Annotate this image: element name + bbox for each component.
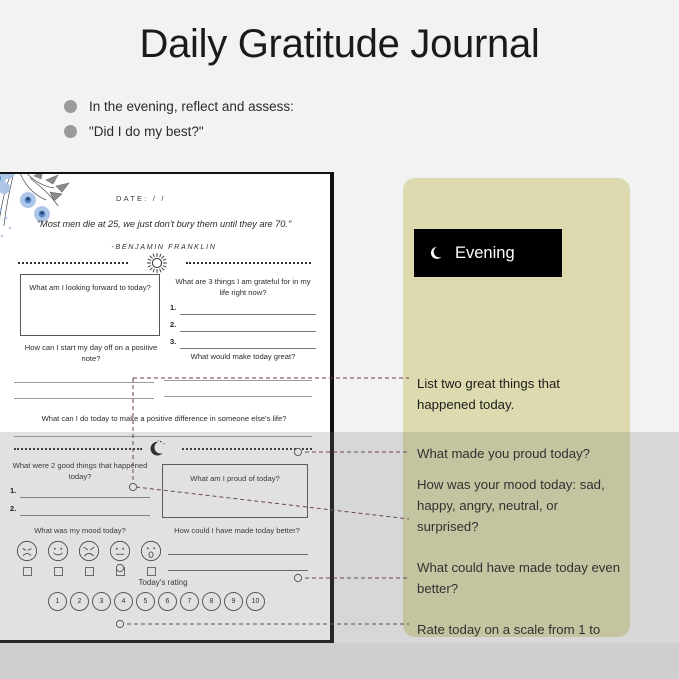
annotation-note: List two great things that happened toda…	[417, 373, 622, 415]
prompt-looking-forward: What am I looking forward to today?	[24, 282, 156, 293]
evening-badge-label: Evening	[455, 244, 515, 263]
header: Daily Gratitude Journal In the evening, …	[0, 0, 679, 160]
write-line[interactable]	[14, 398, 154, 399]
header-bullet-item: In the evening, reflect and assess:	[64, 99, 294, 114]
grateful-number: 1.	[170, 303, 176, 312]
grateful-number: 2.	[170, 320, 176, 329]
mood-checkbox-sad[interactable]	[23, 567, 32, 576]
page-title: Daily Gratitude Journal	[0, 22, 679, 67]
header-bullet-label: "Did I do my best?"	[89, 124, 204, 139]
prompt-grateful: What are 3 things I am grateful for in m…	[170, 276, 316, 298]
evening-annotation-panel: Evening List two great things that happe…	[403, 178, 630, 637]
annotation-note: What made you proud today?	[417, 443, 622, 464]
mood-checkbox-neutral[interactable]	[116, 567, 125, 576]
dotted-divider-right	[186, 262, 311, 266]
prompt-positive-difference: What can I do today to make a positive d…	[14, 414, 314, 423]
bullet-dot-icon	[64, 125, 77, 138]
write-line	[180, 348, 316, 349]
annotation-note: What could have made today even better?	[417, 557, 622, 599]
rating-label: Today's rating	[14, 578, 312, 587]
write-line	[180, 331, 316, 332]
sun-icon	[146, 252, 168, 274]
dotted-divider-right	[182, 448, 312, 452]
rating-option[interactable]: 4	[114, 592, 133, 611]
write-line[interactable]	[14, 436, 312, 437]
evening-badge: Evening	[414, 229, 562, 277]
annotation-note: How was your mood today: sad, happy, ang…	[417, 474, 622, 537]
write-line[interactable]	[14, 382, 154, 383]
header-bullet-item: "Did I do my best?"	[64, 124, 204, 139]
write-line	[20, 515, 150, 516]
dotted-divider-left	[18, 262, 128, 266]
good-thing-number: 1.	[10, 486, 16, 495]
moon-icon	[146, 438, 170, 460]
grateful-number: 3.	[170, 337, 176, 346]
rating-option[interactable]: 7	[180, 592, 199, 611]
rating-option[interactable]: 10	[246, 592, 265, 611]
good-thing-line[interactable]: 2.	[10, 504, 150, 519]
mood-checkbox-happy[interactable]	[54, 567, 63, 576]
grateful-line[interactable]: 1.	[170, 302, 316, 318]
journal-quote: "Most men die at 25, we just don't bury …	[14, 219, 314, 229]
rating-option[interactable]: 3	[92, 592, 111, 611]
prompt-better: How could I have made today better?	[162, 526, 312, 535]
write-line	[20, 497, 150, 498]
good-thing-line[interactable]: 1.	[10, 486, 150, 501]
rating-scale: 1 2 3 4 5 6 7 8 9 10	[48, 592, 265, 611]
write-line[interactable]	[164, 396, 312, 397]
write-line	[180, 314, 316, 315]
mood-angry-face-icon[interactable]	[78, 540, 100, 562]
write-line[interactable]	[164, 380, 312, 381]
prompt-today-great: What would make today great?	[170, 352, 316, 361]
date-field-label[interactable]: DATE: / /	[116, 194, 166, 203]
mood-face-row	[16, 540, 161, 576]
rating-option[interactable]: 6	[158, 592, 177, 611]
write-line[interactable]	[168, 554, 308, 555]
dotted-divider-left	[14, 448, 142, 452]
mood-surprised-face-icon[interactable]	[140, 540, 162, 562]
rating-option[interactable]: 5	[136, 592, 155, 611]
mood-checkbox-surprised[interactable]	[147, 567, 156, 576]
prompt-proud: What am I proud of today?	[166, 474, 304, 483]
rating-option[interactable]: 9	[224, 592, 243, 611]
rating-option[interactable]: 2	[70, 592, 89, 611]
write-line[interactable]	[168, 570, 308, 571]
mood-sad-face-icon[interactable]	[16, 540, 38, 562]
rating-option[interactable]: 1	[48, 592, 67, 611]
crescent-moon-icon	[428, 245, 445, 262]
header-bullet-label: In the evening, reflect and assess:	[89, 99, 294, 114]
mood-checkbox-angry[interactable]	[85, 567, 94, 576]
good-thing-number: 2.	[10, 504, 16, 513]
grateful-line[interactable]: 3.	[170, 336, 316, 352]
mood-neutral-face-icon[interactable]	[109, 540, 131, 562]
grateful-line[interactable]: 2.	[170, 319, 316, 335]
journal-page: DATE: / / "Most men die at 25, we just d…	[0, 172, 334, 644]
prompt-mood: What was my mood today?	[10, 526, 150, 535]
bottom-gray-area	[0, 643, 679, 679]
prompt-positive-note: How can I start my day off on a positive…	[18, 342, 164, 364]
proud-answer-box[interactable]	[162, 464, 308, 518]
journal-quote-author: -BENJAMIN FRANKLIN	[14, 242, 314, 251]
rating-option[interactable]: 8	[202, 592, 221, 611]
mood-happy-face-icon[interactable]	[47, 540, 69, 562]
bullet-dot-icon	[64, 100, 77, 113]
prompt-good-things: What were 2 good things that happened to…	[12, 460, 148, 482]
